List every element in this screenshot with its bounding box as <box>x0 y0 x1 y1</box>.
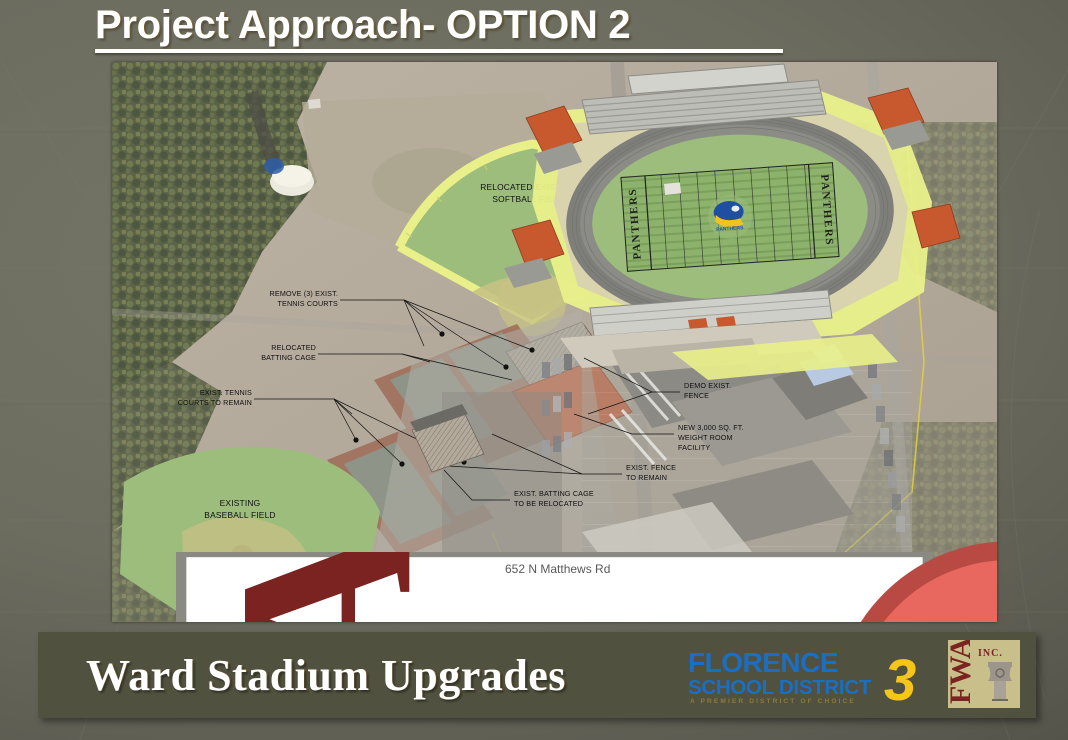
anno-exist-tennis-line2: COURTS TO REMAIN <box>178 398 252 407</box>
project-name: Ward Stadium Upgrades <box>86 650 566 701</box>
district-logo-tagline: A PREMIER DISTRICT OF CHOICE <box>690 698 856 705</box>
anno-exist-fence-line2: TO REMAIN <box>626 473 667 482</box>
baseball-field-label-line1: EXISTING <box>220 498 261 508</box>
anno-demo-fence-line2: FENCE <box>684 391 709 400</box>
anno-exist-tennis-line1: EXIST. TENNIS <box>200 388 252 397</box>
anno-relocated-cage-line1: RELOCATED <box>271 343 316 352</box>
district-logo-line2: SCHOOL DISTRICT <box>688 676 872 699</box>
baseball-field-label-line2: BASEBALL FIELD <box>204 510 275 520</box>
address-label: 652 N Matthews Rd <box>505 562 610 576</box>
anno-remove-tennis-line2: TENNIS COURTS <box>277 299 338 308</box>
slide-canvas: Project Approach- OPTION 2 <box>0 0 1068 740</box>
anno-exist-fence-line1: EXIST. FENCE <box>626 463 676 472</box>
bottom-banner: Ward Stadium Upgrades FLORENCE SCHOOL DI… <box>38 632 1036 718</box>
anno-weight-room-line3: FACILITY <box>678 443 710 452</box>
title-underline <box>95 49 783 53</box>
anno-weight-room-line2: WEIGHT ROOM <box>678 433 733 442</box>
anno-relocated-cage-line2: BATTING CAGE <box>261 353 316 362</box>
fwa-wordmark: FWA <box>187 552 463 622</box>
district-logo: FLORENCE SCHOOL DISTRICT A PREMIER DISTR… <box>688 642 938 708</box>
map-pin-icon <box>567 532 997 622</box>
fwa-wordmark-banner: FWA <box>948 640 977 704</box>
architect-logo-banner: FWA INC. <box>948 640 1020 708</box>
fwa-inc-suffix-banner: INC. <box>978 648 1003 659</box>
address-marker[interactable]: 652 N Matthews Rd <box>567 532 997 622</box>
architect-logo-map: FWA INC. <box>112 552 184 606</box>
anno-exist-cage-line2: TO BE RELOCATED <box>514 499 583 508</box>
anno-demo-fence-line1: DEMO EXIST. <box>684 381 731 390</box>
anno-remove-tennis-line1: REMOVE (3) EXIST. <box>270 289 338 298</box>
page-title: Project Approach- OPTION 2 <box>95 2 855 48</box>
anno-weight-room-line1: NEW 3,000 SQ. FT. <box>678 423 744 432</box>
anno-exist-cage-line1: EXIST. BATTING CAGE <box>514 489 594 498</box>
district-logo-line1: FLORENCE <box>688 647 838 678</box>
site-plan-image[interactable]: RELOCATED EXISTING SOFTBALL FIELD <box>112 62 997 622</box>
slide-title-block: Project Approach- OPTION 2 <box>95 2 855 60</box>
district-logo-numeral: 3 <box>884 648 916 708</box>
